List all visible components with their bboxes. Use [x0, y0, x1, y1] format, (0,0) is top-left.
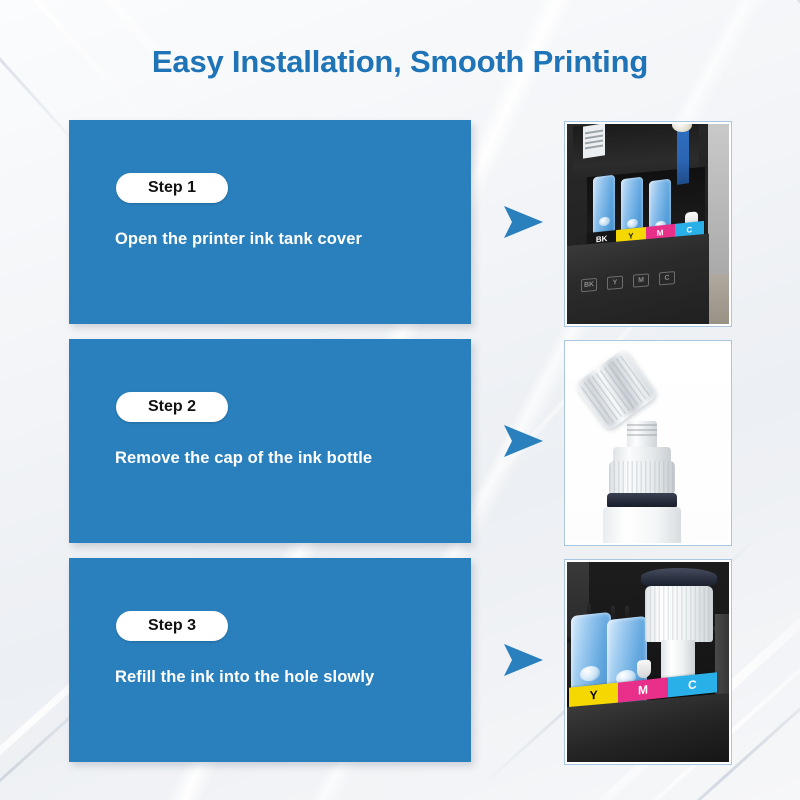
bottle-body [603, 507, 681, 543]
refill-ink-into-tank-photo: Y M C [564, 559, 732, 765]
step-row: Step 1 Open the printer ink tank cover [0, 120, 800, 324]
step-card-1: Step 1 Open the printer ink tank cover [69, 120, 471, 324]
bottle-body [645, 586, 713, 642]
step-badge-2: Step 2 [116, 392, 228, 422]
step-card-3: Step 3 Refill the ink into the hole slow… [69, 558, 471, 762]
printer-button-y: Y [607, 276, 623, 290]
step-description-3: Refill the ink into the hole slowly [115, 668, 374, 687]
printer-button-bk: BK [581, 278, 597, 292]
background-streak [0, 0, 157, 15]
step-description-1: Open the printer ink tank cover [115, 230, 362, 249]
printer-ink-tank-open-cover-photo: BK Y M C BK Y M C [564, 121, 732, 327]
arrow-right-icon [499, 640, 545, 680]
printer-button-c: C [659, 271, 675, 285]
page-title: Easy Installation, Smooth Printing [0, 44, 800, 80]
step-badge-3: Step 3 [116, 611, 228, 641]
printer-button-m: M [633, 273, 649, 287]
bottle-thread [609, 461, 675, 495]
step-badge-1: Step 1 [116, 173, 228, 203]
infographic-page: Easy Installation, Smooth Printing Step … [0, 0, 800, 800]
step-card-2: Step 2 Remove the cap of the ink bottle [69, 339, 471, 543]
step-row: Step 3 Refill the ink into the hole slow… [0, 558, 800, 762]
step-row: Step 2 Remove the cap of the ink bottle [0, 339, 800, 543]
arrow-right-icon [499, 421, 545, 461]
arrow-right-icon [499, 202, 545, 242]
ink-bottle-cap-removed-photo [564, 340, 732, 546]
step-description-2: Remove the cap of the ink bottle [115, 449, 372, 468]
